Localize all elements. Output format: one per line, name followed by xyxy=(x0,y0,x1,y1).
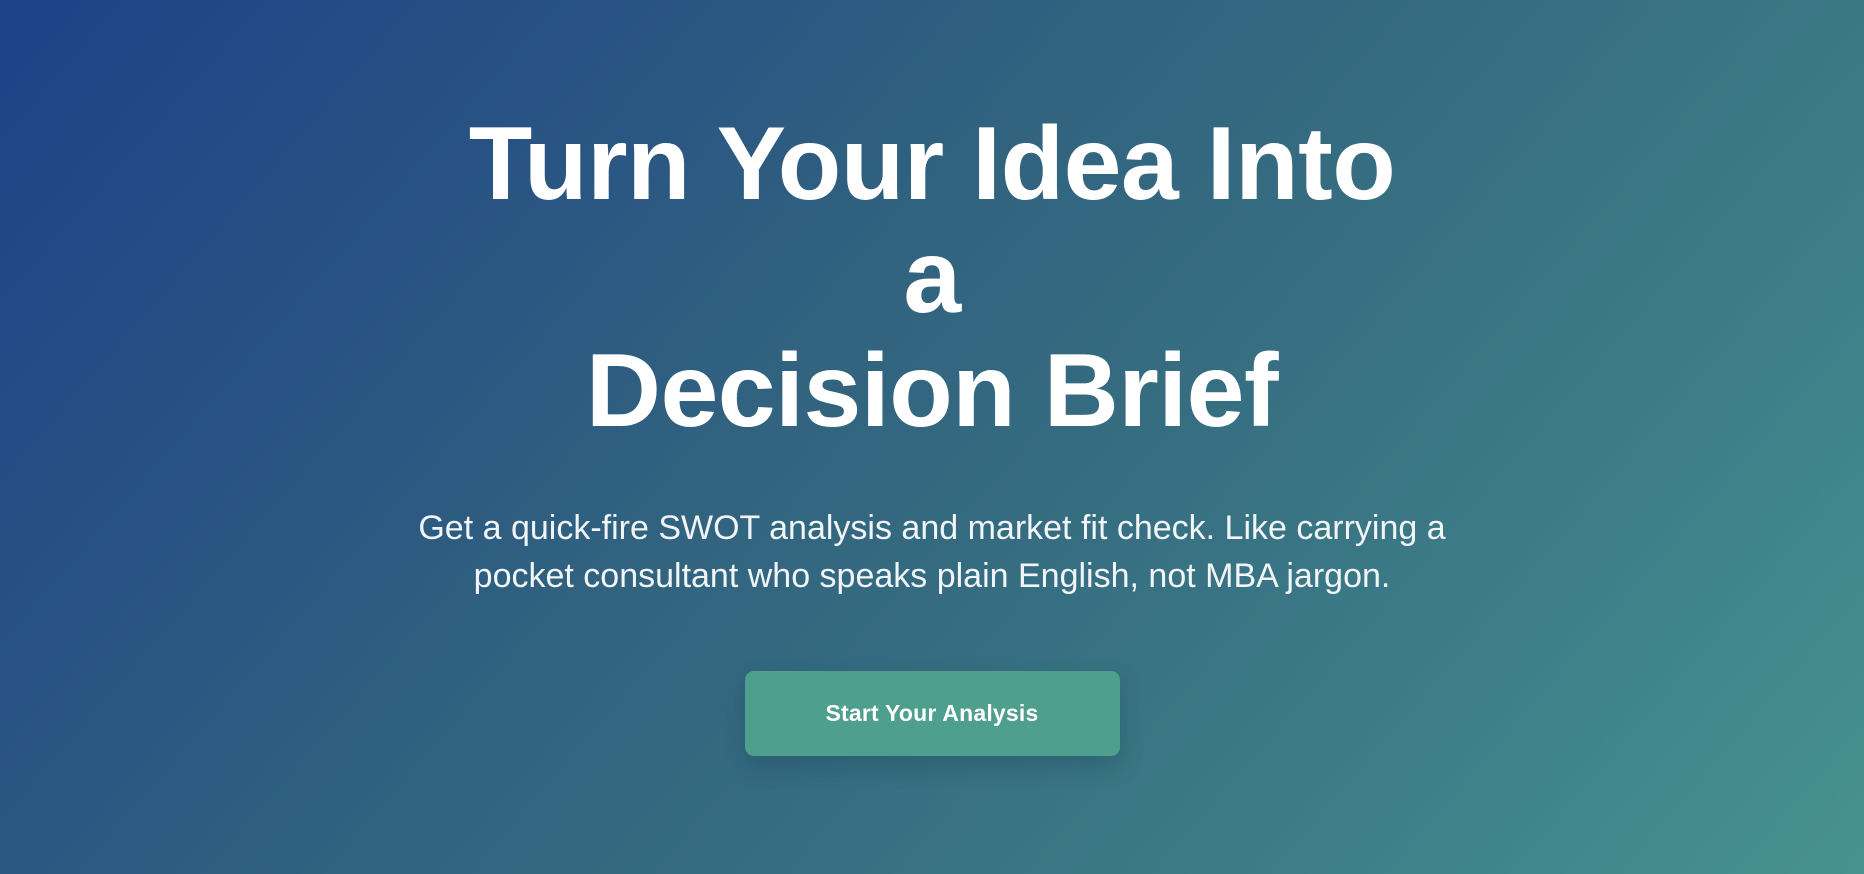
page-title-line-1: Turn Your Idea Into a xyxy=(469,106,1396,335)
start-your-analysis-button[interactable]: Start Your Analysis xyxy=(745,671,1120,756)
hero-section: Turn Your Idea Into a Decision Brief Get… xyxy=(0,0,1864,874)
hero-content: Turn Your Idea Into a Decision Brief Get… xyxy=(282,0,1582,756)
page-title: Turn Your Idea Into a Decision Brief xyxy=(432,108,1432,448)
hero-subtitle: Get a quick-fire SWOT analysis and marke… xyxy=(367,504,1497,601)
page-title-line-2: Decision Brief xyxy=(586,333,1278,449)
cta-container: Start Your Analysis xyxy=(282,671,1582,756)
